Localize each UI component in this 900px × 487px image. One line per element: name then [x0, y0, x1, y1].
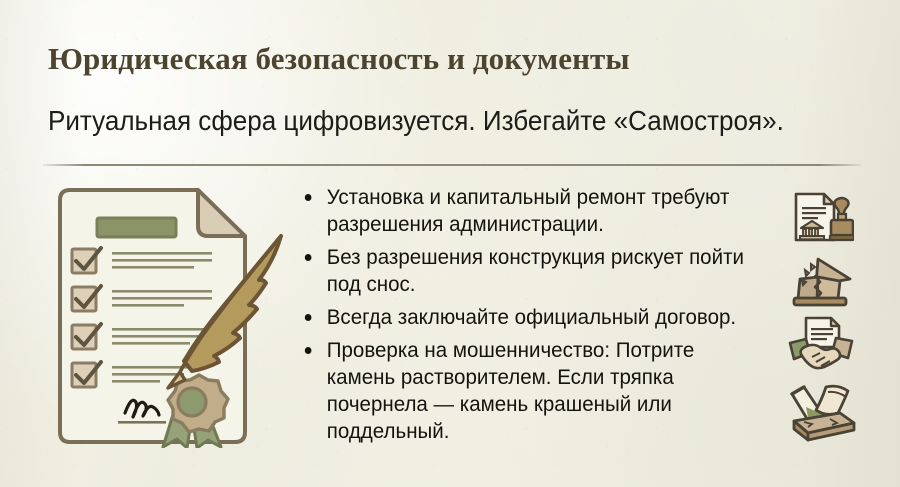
courthouse-base	[800, 236, 824, 239]
permit-document-stamp-icon	[792, 190, 854, 253]
bullet-list: Установка и капитальный ремонт требуют р…	[300, 184, 778, 451]
cloth-rag	[816, 386, 848, 414]
permit-line	[802, 217, 818, 219]
bullet-dot-icon	[305, 347, 312, 354]
document-title-bar	[97, 218, 176, 237]
list-item-text: Без разрешения конструкция рискует пойти…	[327, 245, 744, 296]
text-line	[112, 266, 194, 269]
bullet-dot-icon	[305, 314, 312, 321]
list-item-text: Проверка на мошенничество: Потрите камен…	[327, 338, 695, 443]
text-line	[112, 297, 212, 300]
text-line	[112, 335, 210, 338]
house-ground	[794, 298, 846, 305]
debris-chunk	[805, 270, 809, 276]
contract-handshake-svg	[786, 315, 856, 373]
solvent-test-svg	[784, 381, 858, 445]
page-title: Юридическая безопасность и документы	[48, 41, 630, 77]
text-line	[112, 380, 160, 383]
slide-canvas: Юридическая безопасность и документы Рит…	[0, 0, 900, 487]
permit-line	[802, 207, 826, 209]
page-subtitle: Ритуальная сфера цифровизуется. Избегайт…	[48, 105, 784, 137]
seal-center	[178, 388, 206, 416]
list-item-text: Всегда заключайте официальный договор.	[327, 305, 736, 329]
bullet-dot-icon	[305, 254, 312, 261]
demolished-house-svg	[788, 253, 856, 311]
contract-fold	[831, 318, 839, 326]
text-line	[112, 342, 190, 345]
solvent-test-icon	[784, 381, 858, 450]
house-body-right	[817, 277, 840, 299]
demolished-house-icon	[788, 253, 856, 316]
contract-handshake-icon	[786, 315, 856, 378]
permit-document-stamp-svg	[792, 190, 854, 248]
text-line	[112, 373, 184, 376]
document-quill-seal-svg	[40, 176, 302, 448]
debris-chunk	[811, 264, 815, 270]
handshake-hands	[801, 345, 841, 368]
bullet-dot-icon	[305, 194, 312, 201]
header-divider	[43, 164, 861, 166]
contract-line	[811, 333, 833, 335]
text-line	[112, 328, 210, 331]
stamp-base	[831, 220, 853, 236]
contract-line	[811, 328, 833, 330]
text-line	[112, 259, 212, 262]
text-line	[112, 290, 212, 293]
list-item: Установка и капитальный ремонт требуют р…	[300, 184, 756, 238]
signature-line	[118, 421, 166, 424]
text-line	[112, 252, 212, 255]
folded-corner	[198, 190, 245, 236]
list-item: Всегда заключайте официальный договор.	[300, 304, 756, 331]
list-item: Проверка на мошенничество: Потрите камен…	[300, 337, 756, 445]
list-item: Без разрешения конструкция рискует пойти…	[300, 244, 756, 298]
list-item-text: Установка и капитальный ремонт требуют р…	[327, 185, 730, 236]
stamp-pad	[830, 235, 854, 240]
permit-fold	[824, 194, 834, 204]
stamp-handle	[835, 198, 849, 214]
checklist-document-illustration	[40, 176, 302, 448]
text-line	[112, 304, 184, 307]
contract-line	[811, 338, 827, 340]
permit-line	[802, 212, 826, 214]
